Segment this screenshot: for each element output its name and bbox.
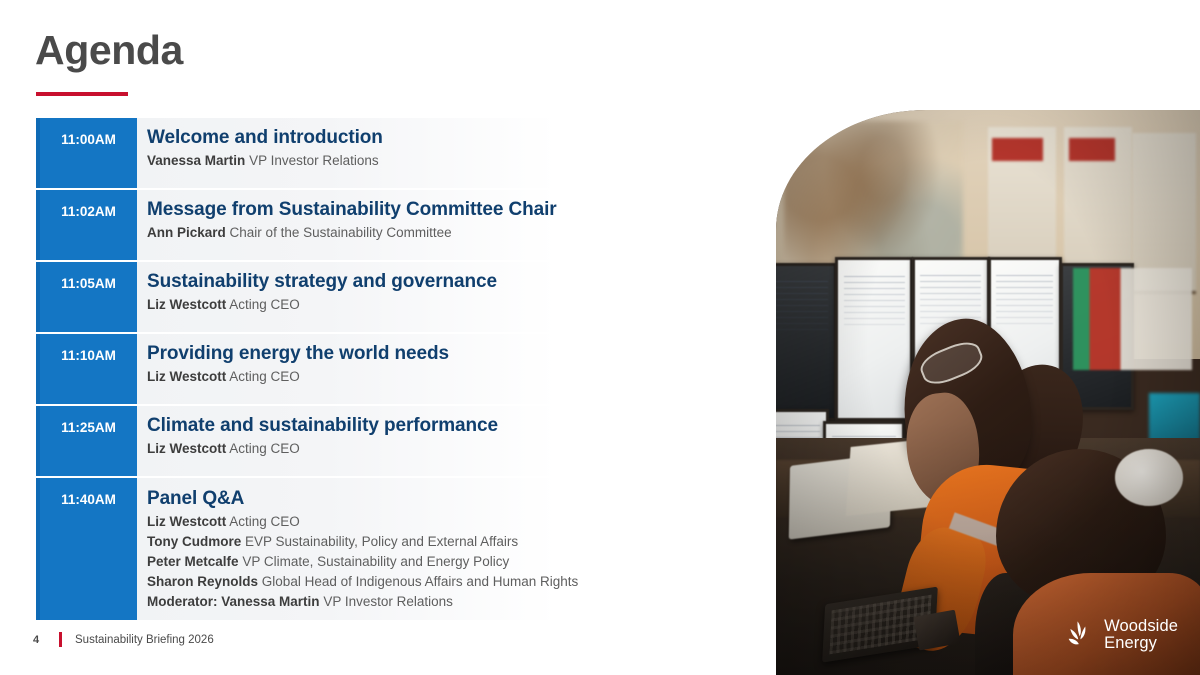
agenda-speaker: Peter Metcalfe VP Climate, Sustainabilit… xyxy=(147,552,736,572)
agenda-session-title: Sustainability strategy and governance xyxy=(147,271,736,293)
agenda-speaker: Liz Westcott Acting CEO xyxy=(147,367,736,387)
speaker-role: Acting CEO xyxy=(229,441,300,456)
agenda-time-badge: 11:25AM xyxy=(36,406,137,476)
speaker-name: Liz Westcott xyxy=(147,369,226,384)
agenda-row-content: Welcome and introduction Vanessa Martin … xyxy=(137,118,736,188)
speaker-role: EVP Sustainability, Policy and External … xyxy=(245,534,518,549)
agenda-row-content: Climate and sustainability performance L… xyxy=(137,406,736,476)
agenda-row-content: Sustainability strategy and governance L… xyxy=(137,262,736,332)
photo-illustration xyxy=(776,110,1200,675)
agenda-list: 11:00AM Welcome and introduction Vanessa… xyxy=(36,118,736,622)
agenda-speaker: Vanessa Martin VP Investor Relations xyxy=(147,151,736,171)
speaker-role: VP Investor Relations xyxy=(249,153,379,168)
speaker-role: Acting CEO xyxy=(229,297,300,312)
speaker-name: Liz Westcott xyxy=(147,441,226,456)
agenda-row-content: Panel Q&A Liz Westcott Acting CEO Tony C… xyxy=(137,478,736,620)
speaker-name: Moderator: Vanessa Martin xyxy=(147,594,320,609)
agenda-time-badge: 11:00AM xyxy=(36,118,137,188)
slide: Agenda 11:00AM Welcome and introduction … xyxy=(0,0,1200,675)
agenda-speaker: Sharon Reynolds Global Head of Indigenou… xyxy=(147,572,736,592)
agenda-row[interactable]: 11:00AM Welcome and introduction Vanessa… xyxy=(36,118,736,188)
agenda-row[interactable]: 11:40AM Panel Q&A Liz Westcott Acting CE… xyxy=(36,478,736,620)
agenda-row-content: Message from Sustainability Committee Ch… xyxy=(137,190,736,260)
speaker-name: Sharon Reynolds xyxy=(147,574,258,589)
agenda-time-badge: 11:02AM xyxy=(36,190,137,260)
speaker-name: Ann Pickard xyxy=(147,225,226,240)
agenda-time-badge: 11:10AM xyxy=(36,334,137,404)
agenda-time-badge: 11:40AM xyxy=(36,478,137,620)
logo-line-woodside: Woodside xyxy=(1104,617,1178,635)
logo-line-energy: Energy xyxy=(1104,634,1157,652)
footer: 4 Sustainability Briefing 2026 xyxy=(33,632,214,647)
agenda-session-title: Welcome and introduction xyxy=(147,127,736,149)
agenda-session-title: Message from Sustainability Committee Ch… xyxy=(147,199,736,221)
speaker-role: Global Head of Indigenous Affairs and Hu… xyxy=(262,574,578,589)
speaker-name: Peter Metcalfe xyxy=(147,554,239,569)
speaker-role: Chair of the Sustainability Committee xyxy=(230,225,452,240)
control-room-photo: Woodside Energy xyxy=(776,110,1200,675)
speaker-name: Vanessa Martin xyxy=(147,153,245,168)
title-accent-rule xyxy=(36,92,128,96)
agenda-session-title: Providing energy the world needs xyxy=(147,343,736,365)
speaker-name: Liz Westcott xyxy=(147,514,226,529)
agenda-speaker: Ann Pickard Chair of the Sustainability … xyxy=(147,223,736,243)
footer-page-number: 4 xyxy=(33,634,59,646)
speaker-role: VP Investor Relations xyxy=(323,594,453,609)
speaker-role: Acting CEO xyxy=(229,514,300,529)
agenda-row[interactable]: 11:02AM Message from Sustainability Comm… xyxy=(36,190,736,260)
agenda-speaker: Liz Westcott Acting CEO xyxy=(147,439,736,459)
speaker-name: Liz Westcott xyxy=(147,297,226,312)
photo-vignette xyxy=(776,110,1200,675)
woodside-flame-icon xyxy=(1061,618,1095,652)
footer-deck-name: Sustainability Briefing 2026 xyxy=(75,634,214,646)
footer-divider xyxy=(59,632,62,647)
agenda-row[interactable]: 11:10AM Providing energy the world needs… xyxy=(36,334,736,404)
agenda-row[interactable]: 11:25AM Climate and sustainability perfo… xyxy=(36,406,736,476)
agenda-session-title: Climate and sustainability performance xyxy=(147,415,736,437)
agenda-session-title: Panel Q&A xyxy=(147,488,736,510)
woodside-logo-text: Woodside Energy xyxy=(1104,618,1178,653)
agenda-speaker: Liz Westcott Acting CEO xyxy=(147,295,736,315)
agenda-row[interactable]: 11:05AM Sustainability strategy and gove… xyxy=(36,262,736,332)
page-title: Agenda xyxy=(35,28,183,73)
agenda-speaker: Tony Cudmore EVP Sustainability, Policy … xyxy=(147,532,736,552)
speaker-role: VP Climate, Sustainability and Energy Po… xyxy=(242,554,509,569)
agenda-row-content: Providing energy the world needs Liz Wes… xyxy=(137,334,736,404)
speaker-role: Acting CEO xyxy=(229,369,300,384)
agenda-speaker: Liz Westcott Acting CEO xyxy=(147,512,736,532)
speaker-name: Tony Cudmore xyxy=(147,534,241,549)
woodside-energy-logo: Woodside Energy xyxy=(1061,618,1178,653)
agenda-time-badge: 11:05AM xyxy=(36,262,137,332)
agenda-speaker: Moderator: Vanessa Martin VP Investor Re… xyxy=(147,592,736,612)
